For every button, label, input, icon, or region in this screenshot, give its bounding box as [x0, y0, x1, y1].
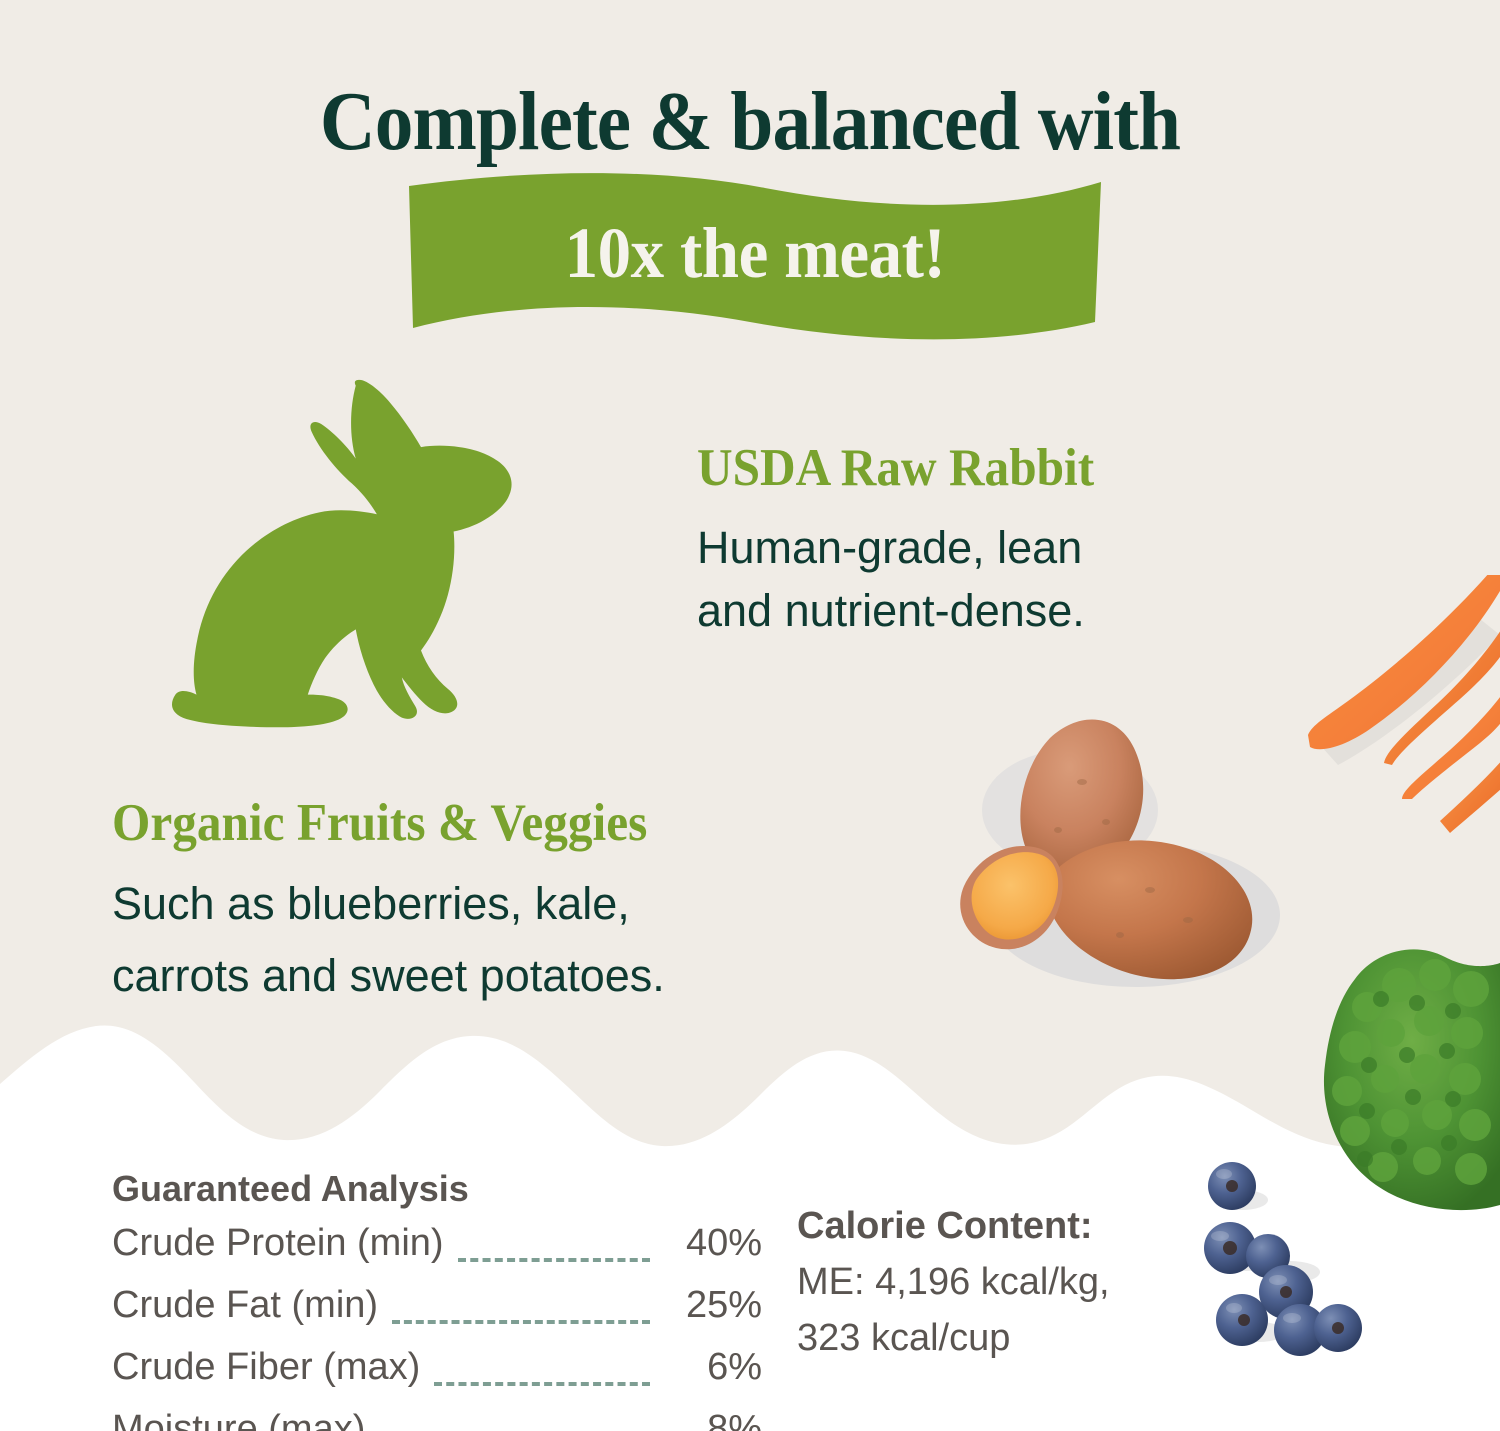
feature-usda-raw-rabbit: USDA Raw Rabbit Human-grade, lean and nu…: [697, 438, 1317, 642]
feature-title: USDA Raw Rabbit: [697, 438, 1274, 498]
analysis-value: 25%: [664, 1284, 762, 1327]
analysis-label: Crude Protein (min): [112, 1222, 444, 1265]
calorie-content-title: Calorie Content:: [797, 1198, 1177, 1254]
dot-leader: [392, 1320, 650, 1324]
analysis-value: 6%: [664, 1346, 762, 1389]
guaranteed-analysis-title: Guaranteed Analysis: [112, 1168, 762, 1210]
analysis-label: Crude Fat (min): [112, 1284, 378, 1327]
analysis-value: 8%: [664, 1408, 762, 1431]
poster-canvas: Complete & balanced with 10x the meat! U…: [0, 0, 1500, 1431]
calorie-line-cup: 323 kcal/cup: [797, 1310, 1177, 1366]
analysis-row: Crude Protein (min) 40%: [112, 1222, 762, 1284]
banner-label: 10x the meat!: [430, 172, 1081, 340]
guaranteed-analysis: Guaranteed Analysis Crude Protein (min) …: [112, 1168, 762, 1431]
blueberries-photo: [1190, 1140, 1380, 1370]
green-banner: 10x the meat!: [405, 172, 1105, 340]
analysis-label: Moisture (max): [112, 1408, 365, 1431]
feature-body-line1: Human-grade, lean: [697, 516, 1317, 579]
sweet-potatoes-photo: [930, 690, 1320, 1030]
analysis-label: Crude Fiber (max): [112, 1346, 420, 1389]
analysis-value: 40%: [664, 1222, 762, 1265]
feature-body-line2: carrots and sweet potatoes.: [112, 940, 902, 1012]
carrots-photo: [1300, 575, 1500, 835]
feature-body-line1: Such as blueberries, kale,: [112, 868, 902, 940]
feature-body: Human-grade, lean and nutrient-dense.: [697, 516, 1317, 642]
feature-title: Organic Fruits & Veggies: [112, 792, 847, 854]
rabbit-silhouette-icon: [165, 378, 535, 733]
feature-body-line2: and nutrient-dense.: [697, 579, 1317, 642]
analysis-row: Moisture (max) 8%: [112, 1408, 762, 1431]
calorie-content: Calorie Content: ME: 4,196 kcal/kg, 323 …: [797, 1198, 1177, 1366]
feature-organic-fruits-veggies: Organic Fruits & Veggies Such as blueber…: [112, 792, 902, 1012]
feature-body: Such as blueberries, kale, carrots and s…: [112, 868, 902, 1012]
calorie-line-kg: ME: 4,196 kcal/kg,: [797, 1254, 1177, 1310]
dot-leader: [434, 1382, 650, 1386]
dot-leader: [458, 1258, 650, 1262]
headline-line1: Complete & balanced with: [60, 78, 1440, 166]
analysis-row: Crude Fat (min) 25%: [112, 1284, 762, 1346]
analysis-row: Crude Fiber (max) 6%: [112, 1346, 762, 1408]
